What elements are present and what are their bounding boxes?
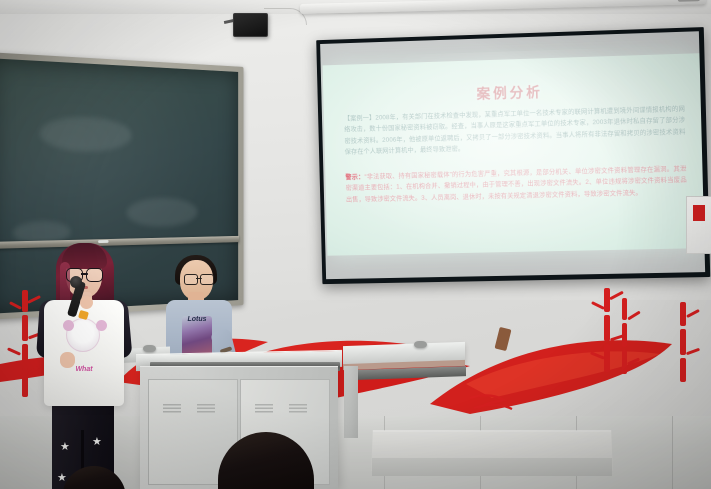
male-shirt-print-text: Lotus xyxy=(180,316,214,323)
wall-poster xyxy=(686,196,711,254)
slide-body-paragraph: 【案例一】2008年，有关部门在技术检查中发现，某重点军工单位一名技术专家的联网… xyxy=(344,104,686,159)
slide-warning-text: “非法获取、持有国家秘密载体”的行为危害严重，究其根源，是部分机关、单位涉密文件… xyxy=(346,166,687,204)
slide-title: 案例分析 xyxy=(323,77,700,108)
projection-screen: 案例分析 【案例一】2008年，有关部门在技术检查中发现，某重点军工单位一名技术… xyxy=(316,27,710,284)
platform-step-face xyxy=(372,458,612,476)
screen-surface: 案例分析 【案例一】2008年，有关部门在技术检查中发现，某重点军工单位一名技术… xyxy=(320,31,705,279)
female-hand-holding-mic xyxy=(80,296,93,309)
wall-speaker xyxy=(233,13,268,37)
side-desk-leg xyxy=(344,366,358,438)
star-icon: ★ xyxy=(92,437,102,448)
slide-warning-tag: 警示： xyxy=(345,174,364,181)
star-icon: ★ xyxy=(60,442,70,453)
slide-warning-block: 警示：“非法获取、持有国家秘密载体”的行为危害严重，究其根源，是部分机关、单位涉… xyxy=(345,164,687,206)
female-hand-lower xyxy=(60,352,75,368)
glasses-icon xyxy=(184,274,214,283)
mouse-icon-2 xyxy=(414,341,427,348)
classroom-screenshot: 案例分析 【案例一】2008年，有关部门在技术检查中发现，某重点军工单位一名技术… xyxy=(0,0,711,489)
roller-end-cap xyxy=(678,0,700,2)
mouse-icon xyxy=(143,345,156,352)
projected-slide: 案例分析 【案例一】2008年，有关部门在技术检查中发现，某重点军工单位一名技术… xyxy=(323,53,705,256)
